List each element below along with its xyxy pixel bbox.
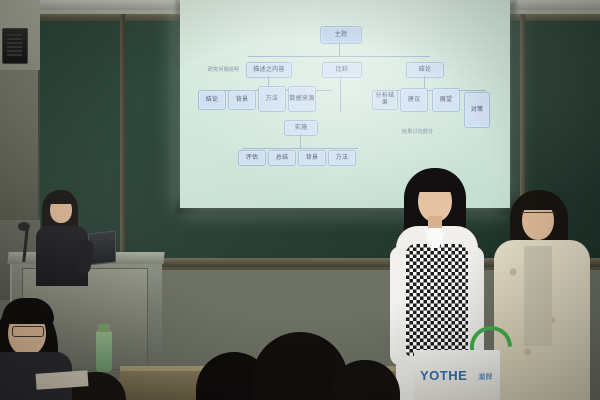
slide-connector [248, 56, 430, 57]
wall-speaker [2, 28, 28, 64]
slide-node-3: 结论 [406, 62, 444, 78]
presenter-center-vest [406, 244, 468, 356]
audience-left-hair [2, 298, 54, 324]
slide-node-15: 背景 [298, 150, 326, 166]
slide-node-2: 比较 [322, 62, 362, 78]
slide-node-8: 分析结果 [372, 90, 398, 110]
slide-connector [300, 134, 301, 148]
slide-annotation-left: 研究问题说明 [208, 66, 239, 73]
slide-node-13: 评估 [238, 150, 266, 166]
slide-node-7: 数据来源 [288, 86, 316, 112]
glasses-icon [12, 326, 44, 337]
slide-annotation-right: 结果讨论部分 [402, 128, 433, 135]
presenter-center-fringe [414, 172, 456, 192]
slide-node-11: 对策 [464, 92, 490, 128]
slide-node-1: 描述之内容 [246, 62, 292, 78]
microphone-icon [18, 222, 30, 231]
presenter-center-neck [428, 216, 442, 230]
slide-node-root: 主题 [320, 26, 362, 44]
presenter-right-fringe [518, 192, 558, 210]
left-wall-frame [0, 70, 40, 220]
slide-connector [242, 148, 358, 149]
presenter-left-fringe [48, 190, 74, 204]
water-bottle-cap [98, 324, 110, 332]
presenter-right-inner-top [524, 246, 552, 346]
slide-node-5: 背景 [228, 90, 256, 110]
tote-bag-subtext: 潮牌 [478, 372, 493, 382]
slide-node-9: 建议 [400, 88, 428, 112]
water-bottle [96, 330, 112, 372]
glasses-icon [521, 212, 555, 221]
slide-node-4: 结论 [198, 90, 226, 110]
slide-connector [340, 76, 341, 112]
projection-screen: 主题 描述之内容 比较 结论 结论 背景 方法 数据来源 分析结果 建议 展望 … [180, 0, 510, 208]
photo-scene: 主题 描述之内容 比较 结论 结论 背景 方法 数据来源 分析结果 建议 展望 … [0, 0, 600, 400]
slide-node-6: 方法 [258, 86, 286, 112]
slide-node-12: 实施 [284, 120, 318, 136]
tote-bag-text: YOTHE [420, 368, 467, 383]
slide-node-14: 总结 [268, 150, 296, 166]
slide-node-16: 方法 [328, 150, 356, 166]
slide-node-10: 展望 [432, 88, 460, 112]
slide-connector [339, 42, 340, 56]
